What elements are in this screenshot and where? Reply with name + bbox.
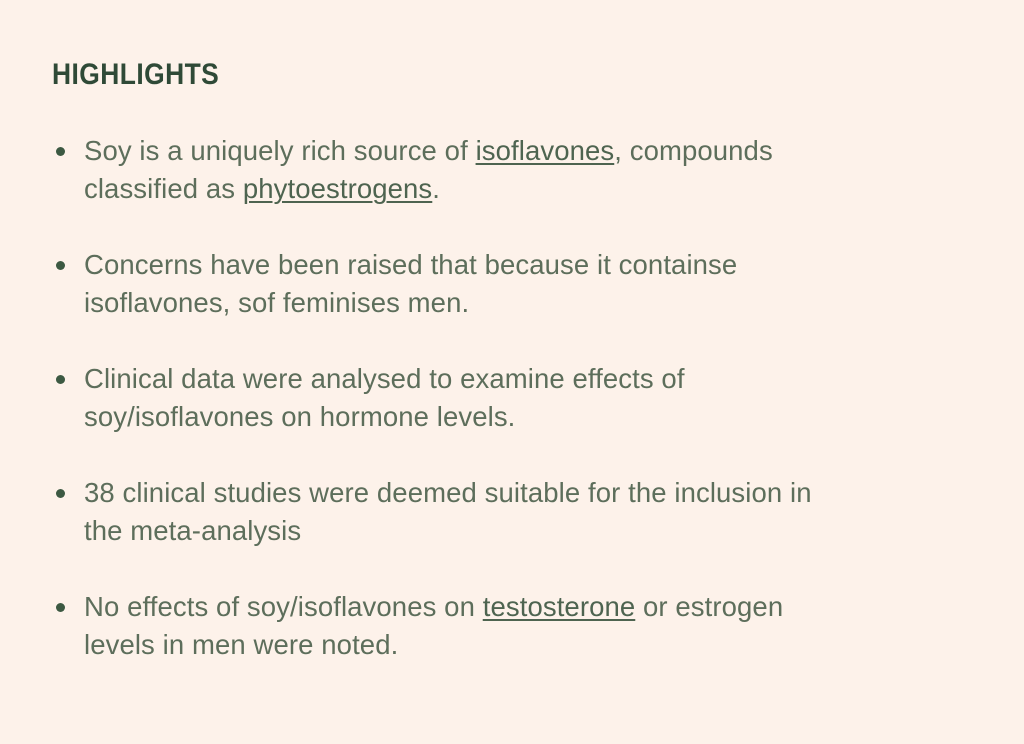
bullet-point-icon	[56, 147, 65, 156]
bullet-point-icon	[56, 489, 65, 498]
text-segment: 38 clinical studies were deemed suitable…	[84, 477, 812, 546]
list-item-text: 38 clinical studies were deemed suitable…	[84, 474, 814, 550]
text-segment: No effects of soy/isoflavones on	[84, 591, 483, 622]
bullet-point-icon	[56, 375, 65, 384]
highlights-bullet-list: Soy is a uniquely rich source of isoflav…	[52, 132, 964, 664]
list-item: Clinical data were analysed to examine e…	[52, 360, 814, 436]
list-item-text: Soy is a uniquely rich source of isoflav…	[84, 132, 814, 208]
bullet-point-icon	[56, 261, 65, 270]
list-item-text: Concerns have been raised that because i…	[84, 246, 814, 322]
text-segment: Clinical data were analysed to examine e…	[84, 363, 685, 432]
highlights-slide: HIGHLIGHTS Soy is a uniquely rich source…	[0, 0, 1024, 744]
list-item-text: Clinical data were analysed to examine e…	[84, 360, 814, 436]
page-title: HIGHLIGHTS	[52, 58, 855, 92]
text-segment: Concerns have been raised that because i…	[84, 249, 737, 318]
text-segment: .	[432, 173, 440, 204]
bullet-point-icon	[56, 603, 65, 612]
list-item: 38 clinical studies were deemed suitable…	[52, 474, 814, 550]
list-item: Soy is a uniquely rich source of isoflav…	[52, 132, 814, 208]
list-item: No effects of soy/isoflavones on testost…	[52, 588, 814, 664]
list-item-text: No effects of soy/isoflavones on testost…	[84, 588, 814, 664]
highlighted-term[interactable]: testosterone	[483, 591, 636, 622]
highlighted-term[interactable]: phytoestrogens	[243, 173, 432, 204]
list-item: Concerns have been raised that because i…	[52, 246, 814, 322]
text-segment: Soy is a uniquely rich source of	[84, 135, 476, 166]
highlighted-term[interactable]: isoflavones	[476, 135, 615, 166]
